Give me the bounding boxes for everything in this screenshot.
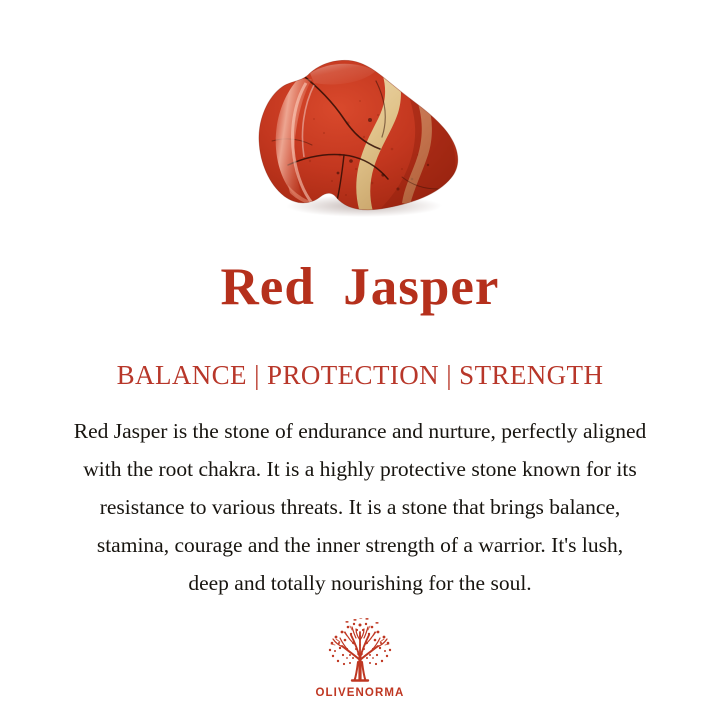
description-line: Red Jasper is the stone of endurance and… — [10, 412, 710, 450]
description-line: with the root chakra. It is a highly pro… — [10, 450, 710, 488]
description-paragraph: Red Jasper is the stone of endurance and… — [10, 412, 710, 602]
keyword-tagline: BALANCE | PROTECTION | STRENGTH — [0, 359, 720, 391]
description-line: resistance to various threats. It is a s… — [10, 488, 710, 526]
stone-image-container — [0, 52, 720, 224]
description-line: stamina, courage and the inner strength … — [10, 526, 710, 564]
brand-logo: OLIVENORMA — [0, 618, 720, 699]
description-line: deep and totally nourishing for the soul… — [10, 564, 710, 602]
page-title: Red Jasper — [0, 258, 720, 316]
red-jasper-stone-image — [252, 57, 468, 219]
tree-of-life-icon — [323, 618, 397, 684]
brand-wordmark: OLIVENORMA — [316, 687, 405, 699]
red-jasper-info-card: Red Jasper BALANCE | PROTECTION | STRENG… — [0, 0, 720, 720]
